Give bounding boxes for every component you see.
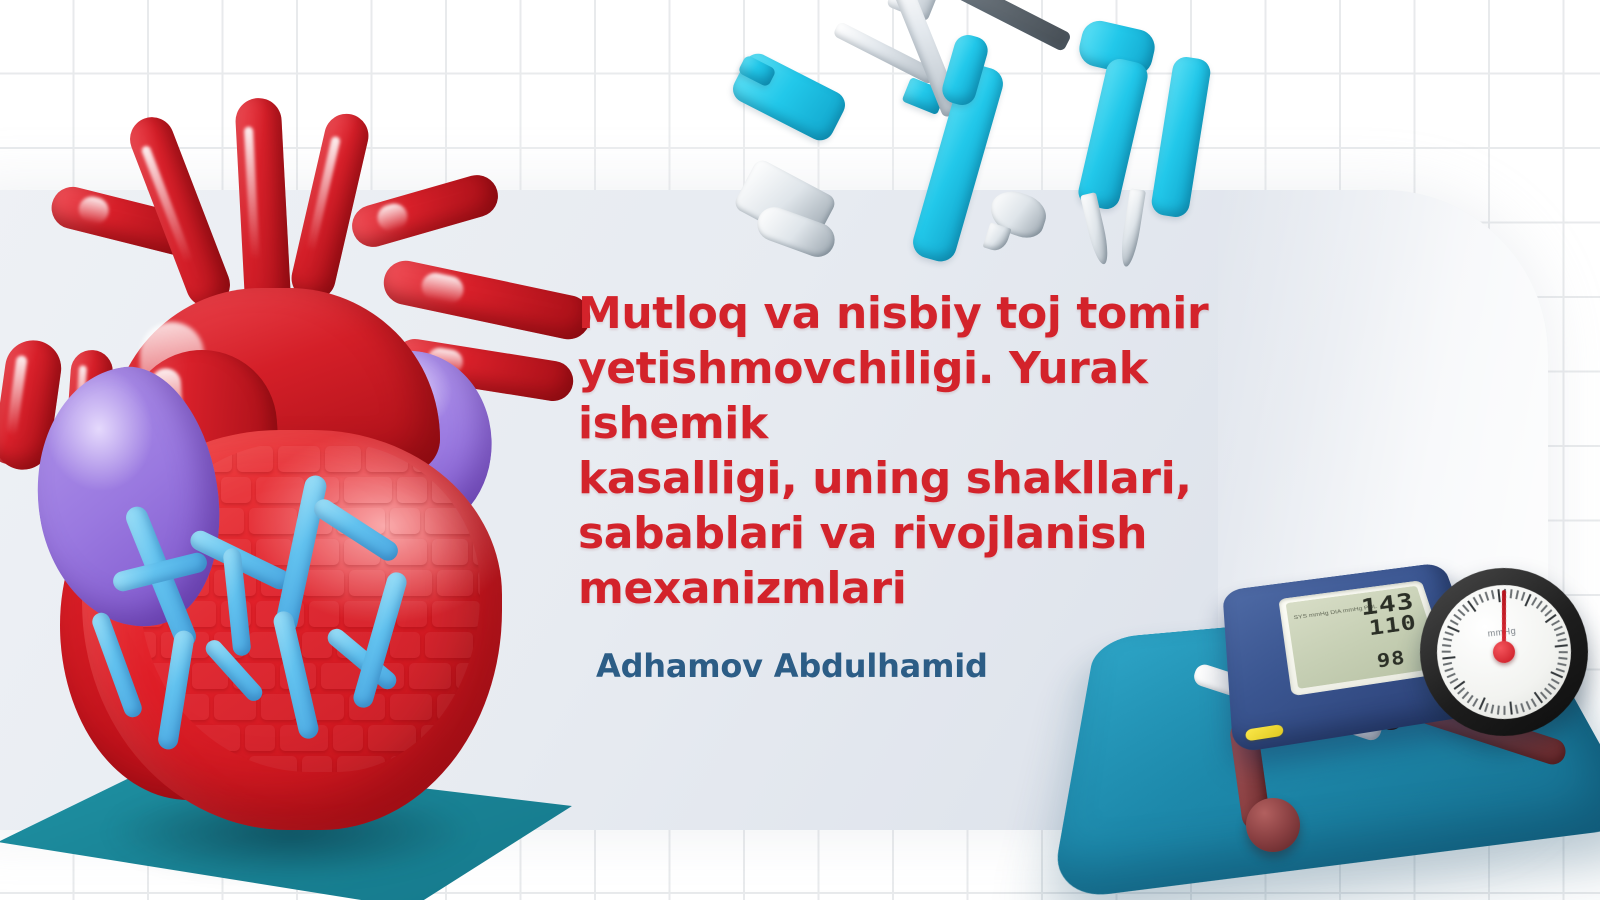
lcd-diastolic: 110	[1368, 613, 1418, 640]
scalpel-blade-point	[983, 222, 1012, 254]
presentation-slide: SYS mmHg DIA mmHg PUL 143 110 98 mmHg Mu…	[0, 0, 1600, 900]
gauge-face: mmHg	[1430, 578, 1577, 725]
title-line-5: mexanizmlari	[578, 561, 1338, 616]
author-name: Adhamov Abdulhamid	[596, 646, 1338, 686]
anatomical-heart-illustration	[0, 50, 600, 900]
inflation-bulb	[1246, 798, 1300, 852]
title-line-3: kasalligi, uning shakllari,	[578, 451, 1338, 506]
great-vessel-right-a	[380, 257, 595, 344]
great-vessel-branch-3	[287, 109, 373, 304]
lcd-pulse: 98	[1376, 649, 1406, 672]
tweezers-arm-right	[1150, 55, 1213, 219]
page-title: Mutloq va nisbiy toj tomir yetishmovchil…	[578, 286, 1338, 616]
title-line-4: sabablari va rivojlanish	[578, 506, 1338, 561]
tweezers-tine-right	[1118, 188, 1146, 268]
monitor-power-button[interactable]	[1245, 724, 1284, 741]
title-line-1: Mutloq va nisbiy toj tomir	[578, 286, 1338, 341]
great-vessel-upper-right	[347, 170, 503, 252]
title-text-block: Mutloq va nisbiy toj tomir yetishmovchil…	[578, 286, 1338, 686]
title-line-2: yetishmovchiligi. Yurak ishemik	[578, 341, 1338, 451]
gauge-hub	[1492, 640, 1516, 664]
tweezers-arm-left	[1076, 56, 1151, 212]
surgical-instruments-illustration	[700, 0, 1300, 275]
great-vessel-branch-2	[234, 97, 291, 314]
